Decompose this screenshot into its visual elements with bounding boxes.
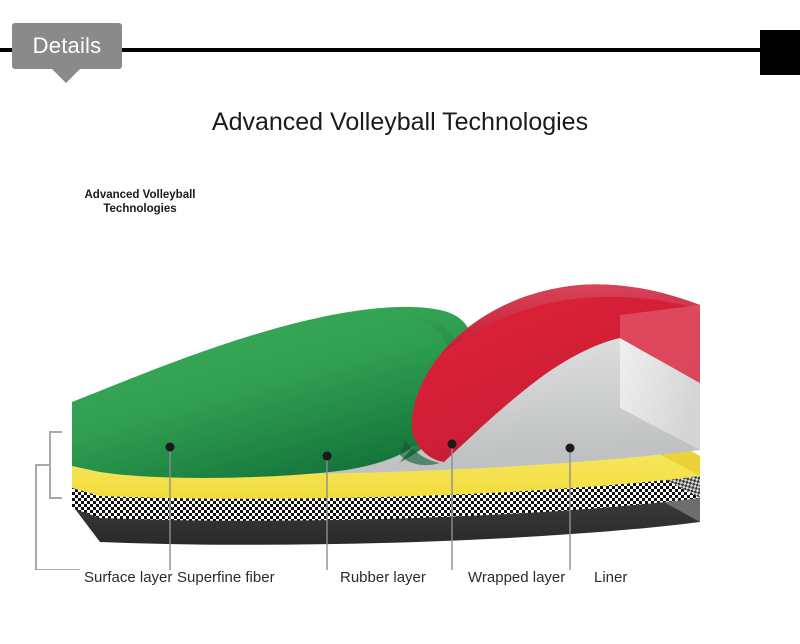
thickness-bracket-inner (50, 432, 62, 498)
product-detail-page: Details Advanced Volleyball Technologies… (0, 0, 800, 644)
thickness-bracket-outer (36, 465, 50, 570)
tab-details[interactable]: Details (12, 23, 122, 69)
layer-cutaway-illustration (0, 150, 800, 570)
tab-details-pointer (52, 69, 80, 83)
page-title: Advanced Volleyball Technologies (0, 108, 800, 137)
callout-label-superfine-fiber: Superfine fiber (177, 569, 275, 586)
dot-liner (566, 444, 575, 453)
dot-superfine (166, 443, 175, 452)
callout-label-surface-layer: Surface layer (84, 569, 172, 586)
callout-label-wrapped-layer: Wrapped layer (468, 569, 565, 586)
dot-rubber (323, 452, 332, 461)
header-corner-block (760, 30, 800, 75)
layer-cutaway-svg (0, 150, 800, 570)
dot-wrapped (448, 440, 457, 449)
callout-label-liner: Liner (594, 569, 627, 586)
tab-details-label: Details (12, 23, 122, 69)
callout-label-rubber-layer: Rubber layer (340, 569, 426, 586)
